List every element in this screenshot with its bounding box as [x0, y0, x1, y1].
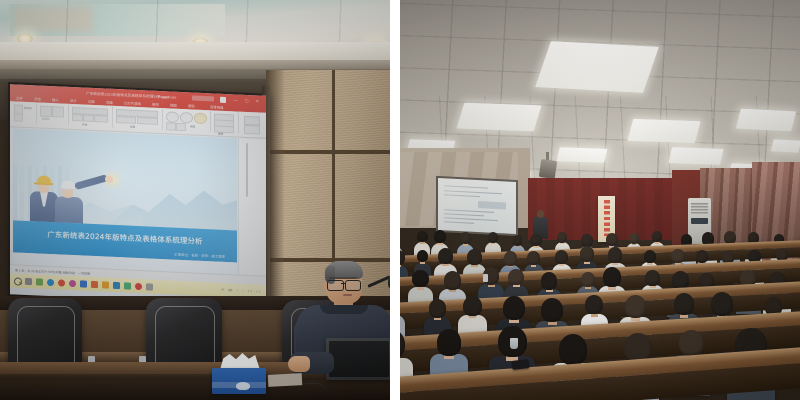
- ribbon-group-label-2: 字体: [82, 122, 87, 126]
- glasses-on-desk: [298, 383, 326, 393]
- smartphone-on-desk: [512, 359, 530, 370]
- vertical-scrollbar[interactable]: [246, 143, 248, 197]
- audience-member-head: [645, 270, 660, 286]
- app-name: PowerPoint: [158, 94, 176, 99]
- audience-member-head: [581, 272, 595, 287]
- ribbon-group-label-4: 绘图: [190, 124, 195, 128]
- menu-item-6[interactable]: 幻灯片放映: [124, 100, 141, 106]
- ceiling-bulkhead: [0, 42, 390, 60]
- taskbar-app-icon-11[interactable]: [146, 283, 153, 290]
- wall-seam: [266, 150, 390, 154]
- right-photo-lecture-hall: [400, 0, 800, 400]
- audience-member-head: [559, 334, 588, 365]
- taskbar-app-icon-1[interactable]: [36, 278, 43, 285]
- audience-member-head: [438, 248, 453, 264]
- ribbon-display-options-icon[interactable]: [220, 96, 226, 102]
- laptop-screen[interactable]: [329, 341, 389, 377]
- audience-member-head: [625, 295, 646, 318]
- engineer-b-body: [55, 196, 83, 223]
- audience-member-head: [644, 250, 656, 263]
- menu-item-8[interactable]: 视图: [170, 102, 177, 107]
- menu-item-1[interactable]: 开始: [34, 96, 41, 101]
- audience-member-head: [503, 296, 526, 320]
- taskbar-app-icon-8[interactable]: [113, 281, 120, 288]
- audience-member-head: [608, 247, 623, 263]
- audience-member-head: [580, 246, 594, 261]
- audience-member-head: [671, 249, 685, 264]
- projection-screen: 广东新统表2024年版特点及表格体系梳理分析.pptx PowerPoint —…: [10, 84, 266, 306]
- taskbar-app-icon-2[interactable]: [47, 278, 54, 285]
- audience-member-head: [530, 234, 542, 247]
- menu-item-3[interactable]: 设计: [70, 98, 77, 103]
- left-photo-conference-room: 广东新统表2024年版特点及表格体系梳理分析.pptx PowerPoint —…: [0, 0, 390, 400]
- taskbar-app-icon-9[interactable]: [124, 282, 131, 289]
- ribbon-group-label-3: 段落: [130, 125, 135, 129]
- audience-member-head: [679, 330, 704, 356]
- ribbon-group-label-5: 编辑: [218, 132, 223, 136]
- hardhat-icon: [37, 175, 51, 184]
- audience-member-head: [527, 251, 540, 265]
- menu-item-4[interactable]: 切换: [88, 99, 95, 104]
- presenter-hand: [288, 356, 310, 372]
- audience-member-head: [488, 232, 498, 243]
- menu-item-7[interactable]: 审阅: [152, 102, 159, 107]
- audience-member-head: [460, 232, 471, 244]
- ribbon-group-label-1: 幻灯片: [42, 117, 50, 121]
- audience-member-head: [696, 250, 708, 263]
- taskbar-app-icon-0[interactable]: [25, 277, 32, 284]
- audience-member-head: [437, 329, 462, 356]
- slide-side-pane: [238, 139, 266, 276]
- audience-member-head: [463, 296, 482, 316]
- audience-member-head: [557, 232, 567, 243]
- audience-member-head: [652, 231, 662, 242]
- microphone-icon: [388, 276, 390, 289]
- audience-area: [400, 0, 800, 400]
- audience-member-head: [434, 230, 446, 243]
- chair-stitching: [17, 306, 75, 366]
- presenter-brow: [329, 277, 357, 279]
- audience-member-head: [504, 251, 518, 266]
- desk-front-panel: [0, 380, 390, 400]
- audience-member-head: [417, 231, 427, 242]
- menu-item-5[interactable]: 动画: [106, 100, 113, 105]
- taskbar-app-icon-10[interactable]: [135, 282, 142, 289]
- audience-member-head: [711, 292, 733, 316]
- audience-member-head: [412, 270, 428, 288]
- paper-on-desk: [268, 373, 303, 387]
- eyeglasses-icon: [345, 280, 361, 291]
- account-chip[interactable]: [192, 95, 214, 101]
- menu-item-0[interactable]: 文件: [16, 95, 23, 100]
- tissue-box-logo: [236, 382, 250, 390]
- audience-member-head: [672, 271, 689, 289]
- menu-item-10[interactable]: 百度网盘: [210, 104, 224, 110]
- taskbar-app-icon-5[interactable]: [80, 280, 87, 287]
- photo-collage: 广东新统表2024年版特点及表格体系梳理分析.pptx PowerPoint —…: [0, 0, 800, 400]
- audience-member-head: [603, 267, 622, 287]
- audience-member-head: [508, 269, 524, 286]
- presenter-mouth: [343, 294, 352, 296]
- taskbar-app-icon-4[interactable]: [69, 279, 76, 286]
- water-cup-on-desk: [483, 274, 488, 282]
- presenter-collar: [320, 305, 368, 314]
- chair-stitching: [155, 306, 215, 366]
- audience-member-head: [467, 249, 482, 265]
- audience-member-head: [444, 271, 462, 290]
- audience-member-head: [674, 293, 694, 315]
- menu-item-9[interactable]: 帮助: [188, 103, 195, 108]
- audience-member-head: [541, 272, 557, 289]
- taskbar-app-icon-3[interactable]: [58, 279, 65, 286]
- ceiling-bulkhead-shadow: [0, 60, 390, 69]
- audience-member-head: [555, 250, 568, 264]
- menu-item-2[interactable]: 插入: [52, 97, 59, 102]
- ribbon-group-label-0: 剪贴板: [24, 106, 32, 110]
- audience-member-head: [581, 234, 593, 247]
- audience-member-head: [585, 295, 603, 314]
- taskbar-app-icon-7[interactable]: [102, 281, 109, 288]
- tissue-box: [212, 368, 266, 394]
- taskbar-system-tray[interactable]: 中 ⌨ ☼ ♪ 15:42: [221, 287, 262, 293]
- window-controls[interactable]: — ▢ ✕: [234, 97, 262, 103]
- audience-member-head: [606, 233, 618, 246]
- water-cup-on-desk: [510, 338, 518, 349]
- slide-canvas[interactable]: 广东新统表2024年版特点及表格体系梳理分析 汇报单位：省局 · 讲师：高工程师: [13, 128, 237, 274]
- hardhat-icon: [61, 181, 75, 190]
- audience-member-head: [429, 299, 447, 318]
- audience-member-head: [513, 235, 523, 246]
- engineer-b-hand: [105, 176, 113, 183]
- audience-member-head: [541, 298, 563, 322]
- wall-seam: [266, 258, 390, 262]
- eyeglasses-icon: [327, 280, 344, 291]
- eyeglasses-bridge: [341, 283, 346, 284]
- audience-member-head: [629, 233, 639, 244]
- taskbar-app-icon-6[interactable]: [91, 280, 98, 287]
